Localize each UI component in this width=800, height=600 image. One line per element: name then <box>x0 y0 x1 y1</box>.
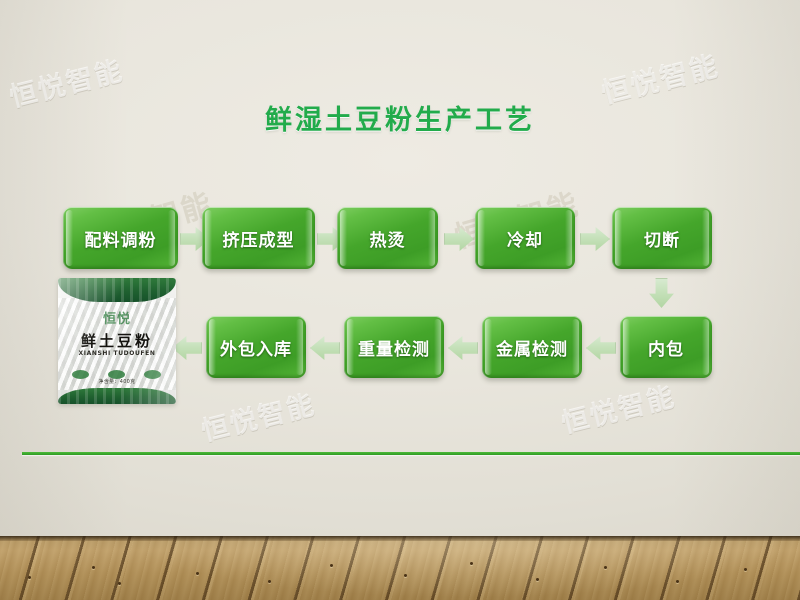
floor-nail <box>196 572 199 575</box>
process-box-label: 挤压成型 <box>223 226 295 251</box>
process-box-lengque[interactable]: 冷却 <box>475 207 575 269</box>
arrow-left-icon <box>310 335 340 361</box>
floor-nail <box>330 564 333 567</box>
floor-light-sheen <box>0 536 800 600</box>
wood-floor <box>0 536 800 600</box>
process-box-label: 金属检测 <box>496 335 568 360</box>
process-box-retang[interactable]: 热烫 <box>337 207 438 269</box>
process-box-peiliao-tiaofen[interactable]: 配料调粉 <box>63 207 178 269</box>
divider-line <box>22 452 800 455</box>
process-box-label: 内包 <box>648 335 684 360</box>
process-box-label: 冷却 <box>507 226 543 251</box>
floor-nail <box>268 580 271 583</box>
floor-nail <box>118 582 121 585</box>
arrow-down-icon <box>648 278 675 308</box>
floor-nail <box>744 568 747 571</box>
process-box-label: 热烫 <box>370 226 406 251</box>
process-box-qieduan[interactable]: 切断 <box>612 207 712 269</box>
arrow-left-icon <box>172 335 202 361</box>
product-package-image: 恒悦 鲜土豆粉 XIANSHI TUDOUFEN 净含量：400克 <box>58 278 176 404</box>
process-box-label: 外包入库 <box>220 335 292 360</box>
arrow-right-icon <box>444 226 474 252</box>
process-box-waibao-ruku[interactable]: 外包入库 <box>206 316 306 378</box>
slide-canvas: 恒悦智能 恒悦智能 恒悦智能 恒悦智能 恒悦智能 恒悦智能 鲜湿土豆粉生产工艺 … <box>0 0 800 600</box>
floor-nail <box>404 574 407 577</box>
process-box-zhongliang-jiance[interactable]: 重量检测 <box>344 316 444 378</box>
process-box-neibao[interactable]: 内包 <box>620 316 712 378</box>
floor-nail <box>92 566 95 569</box>
floor-top-edge <box>0 536 800 541</box>
page-title: 鲜湿土豆粉生产工艺 <box>0 98 800 137</box>
arrow-right-icon <box>580 226 610 252</box>
arrow-left-icon <box>448 335 478 361</box>
floor-nail <box>536 578 539 581</box>
floor-nail <box>676 580 679 583</box>
process-box-jinshu-jiance[interactable]: 金属检测 <box>482 316 582 378</box>
arrow-left-icon <box>586 335 616 361</box>
process-box-label: 切断 <box>644 226 680 251</box>
process-box-jiya-chengxing[interactable]: 挤压成型 <box>202 207 315 269</box>
process-box-label: 配料调粉 <box>85 226 157 251</box>
floor-nail <box>28 576 31 579</box>
package-gloss-overlay <box>58 278 176 404</box>
process-box-label: 重量检测 <box>358 335 430 360</box>
floor-nail <box>604 566 607 569</box>
floor-nail <box>470 562 473 565</box>
